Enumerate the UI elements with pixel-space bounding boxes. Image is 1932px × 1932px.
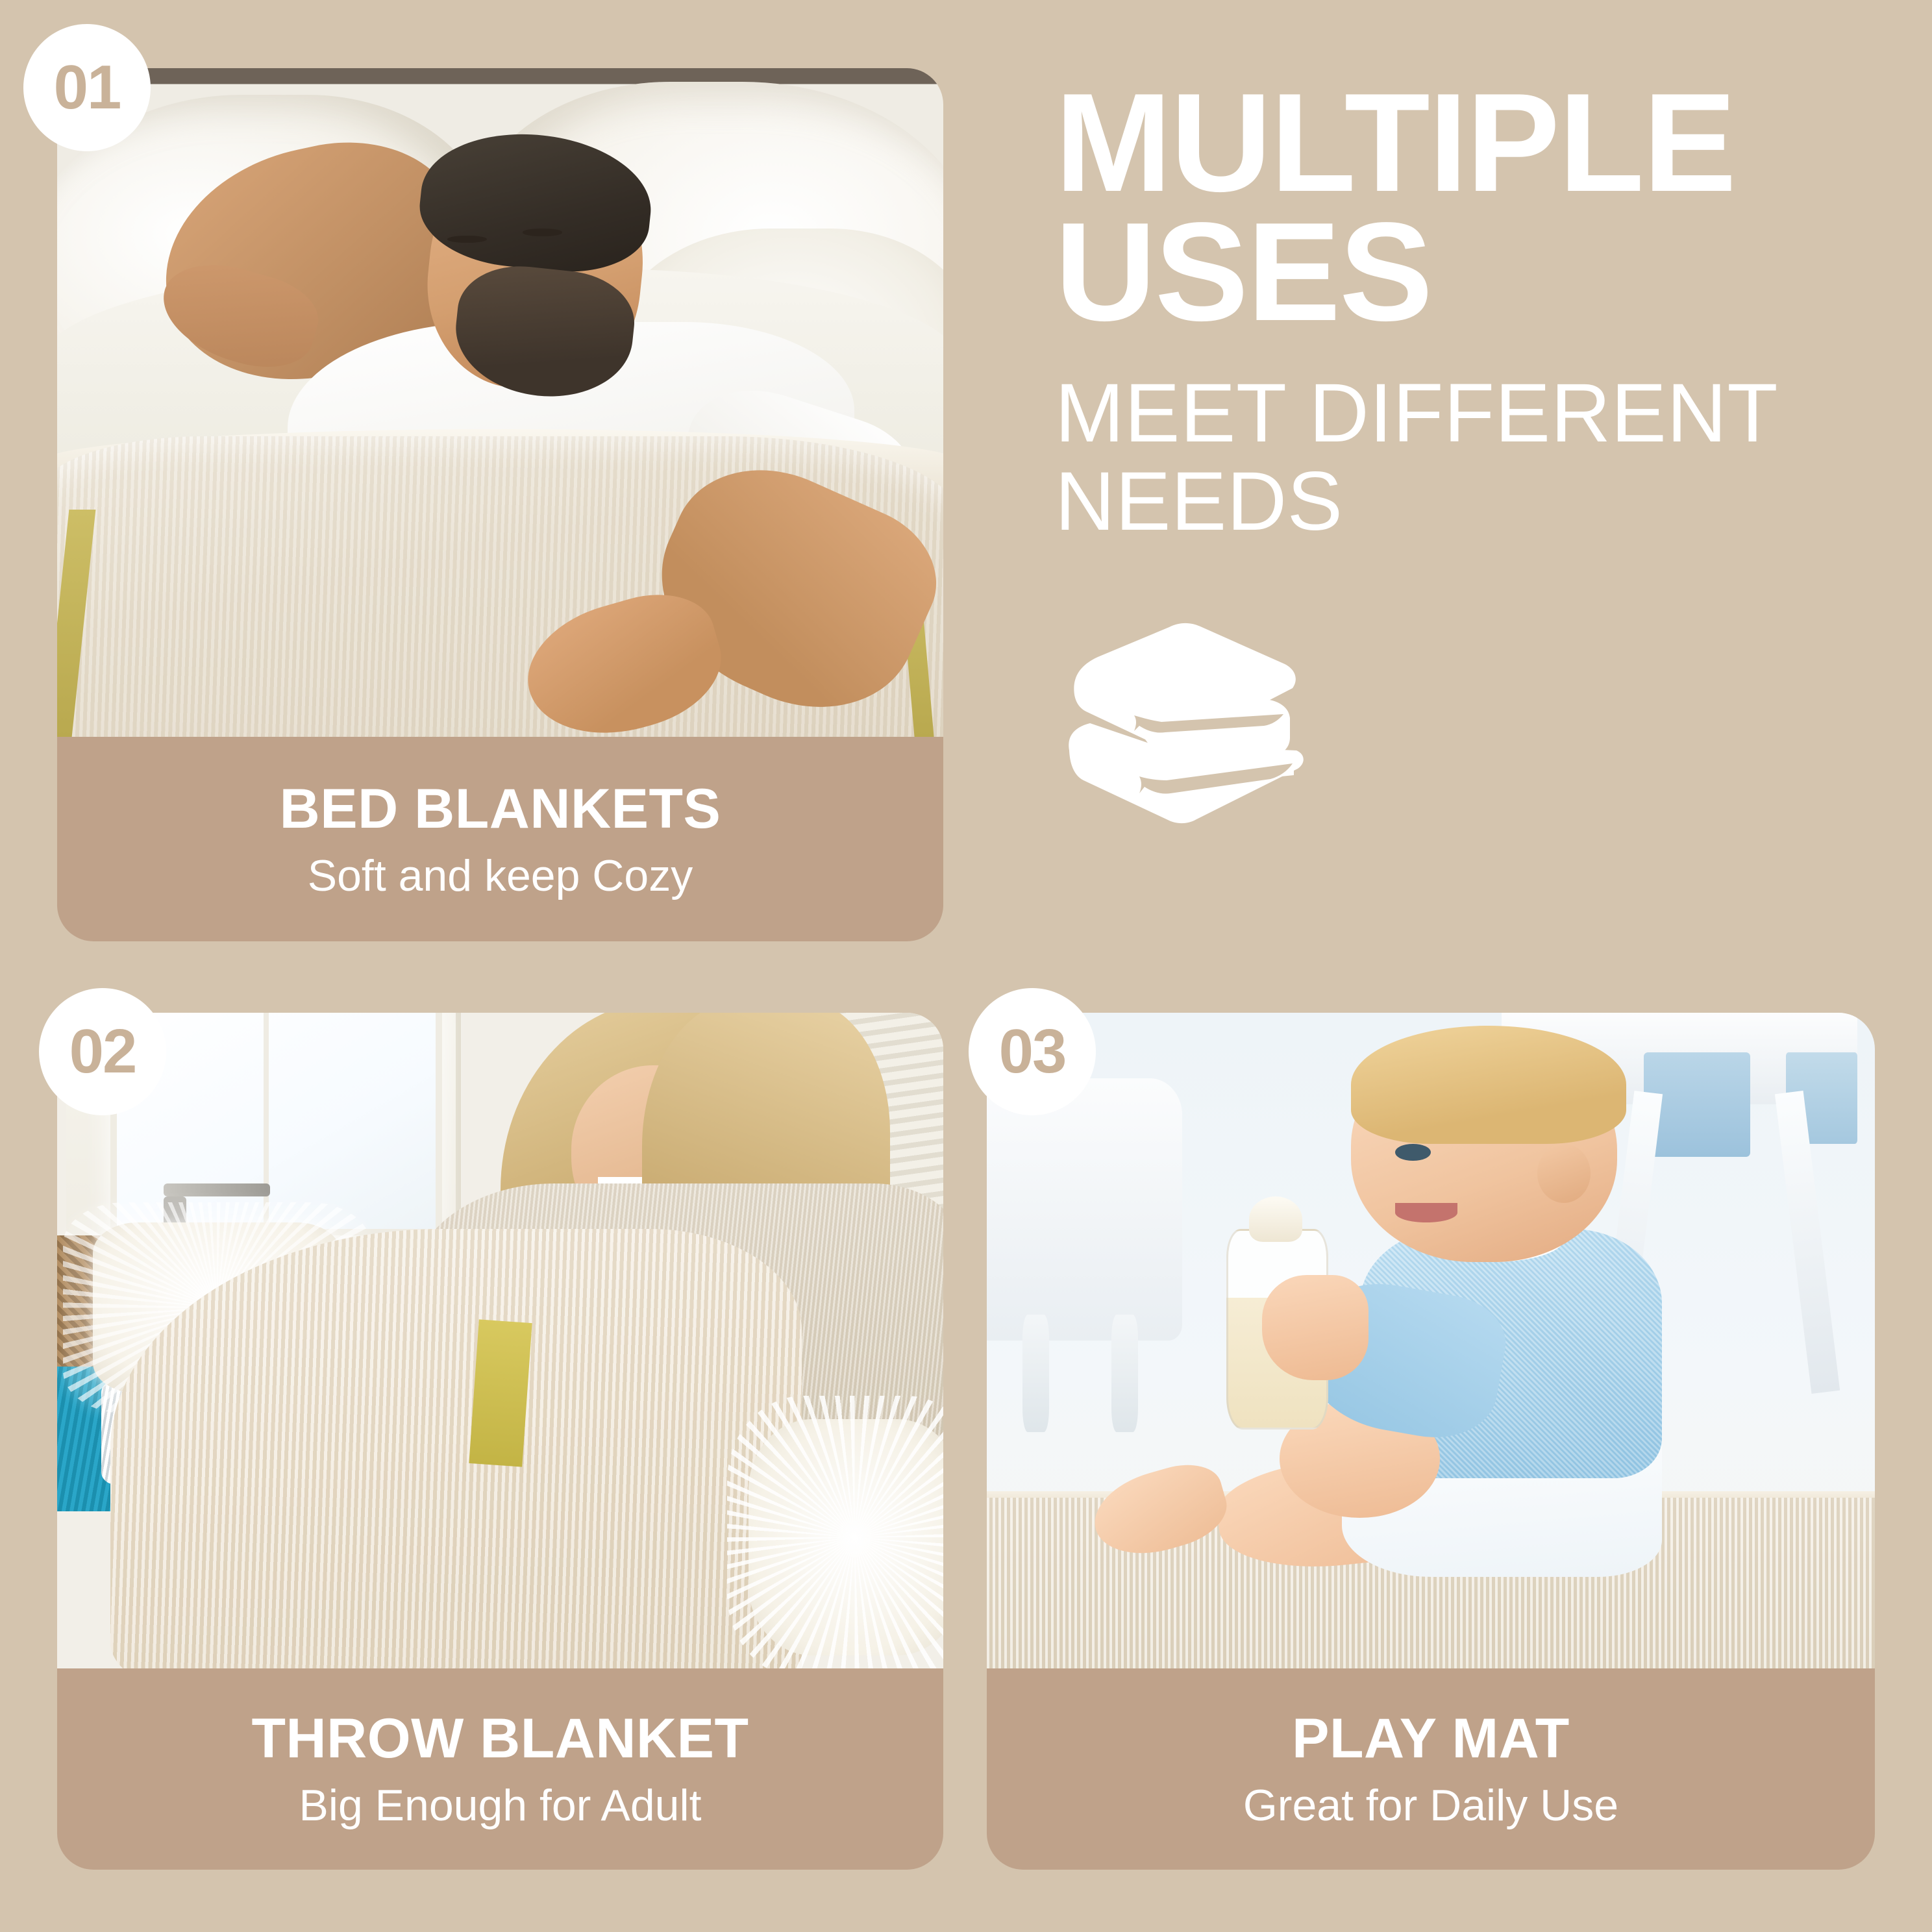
feature-card-throw-blanket[interactable]: THROW BLANKET Big Enough for Adult 02 bbox=[57, 1013, 943, 1870]
card-caption-throw-blanket: THROW BLANKET Big Enough for Adult bbox=[57, 1668, 943, 1870]
card-photo-play-mat bbox=[987, 1013, 1875, 1668]
folded-blankets-stack-icon bbox=[1055, 617, 1328, 831]
card-badge-03-label: 03 bbox=[999, 1016, 1066, 1087]
scene-woman-with-mug bbox=[57, 1013, 943, 1668]
subheadline-line-2: NEEDS bbox=[1055, 458, 1879, 546]
headline-block: MULTIPLE USES MEET DIFFERENT NEEDS bbox=[1055, 78, 1879, 546]
card-badge-01: 01 bbox=[23, 24, 151, 151]
card-title-throw-blanket: THROW BLANKET bbox=[251, 1711, 749, 1766]
feature-card-play-mat[interactable]: PLAY MAT Great for Daily Use 03 bbox=[987, 1013, 1875, 1870]
card-caption-bed-blankets: BED BLANKETS Soft and keep Cozy bbox=[57, 737, 943, 941]
card-badge-01-label: 01 bbox=[54, 52, 121, 123]
scene-man-sleeping bbox=[57, 68, 943, 737]
scene-baby-with-bottle bbox=[987, 1013, 1875, 1668]
feature-card-bed-blankets[interactable]: BED BLANKETS Soft and keep Cozy 01 bbox=[57, 68, 943, 941]
card-badge-03: 03 bbox=[969, 988, 1096, 1115]
headline-line-1: MULTIPLE bbox=[1055, 78, 1879, 207]
card-title-bed-blankets: BED BLANKETS bbox=[280, 781, 721, 837]
product-infographic: BED BLANKETS Soft and keep Cozy 01 MULTI… bbox=[0, 0, 1932, 1932]
card-photo-bed-blankets bbox=[57, 68, 943, 737]
card-subtitle-play-mat: Great for Daily Use bbox=[1243, 1783, 1618, 1827]
headline-line-2: USES bbox=[1055, 207, 1879, 336]
card-subtitle-throw-blanket: Big Enough for Adult bbox=[299, 1783, 701, 1827]
card-caption-play-mat: PLAY MAT Great for Daily Use bbox=[987, 1668, 1875, 1870]
card-title-play-mat: PLAY MAT bbox=[1292, 1711, 1570, 1766]
card-badge-02-label: 02 bbox=[69, 1016, 136, 1087]
subheadline-line-1: MEET DIFFERENT bbox=[1055, 369, 1879, 458]
card-badge-02: 02 bbox=[39, 988, 166, 1115]
card-photo-throw-blanket bbox=[57, 1013, 943, 1668]
card-subtitle-bed-blankets: Soft and keep Cozy bbox=[308, 854, 693, 898]
